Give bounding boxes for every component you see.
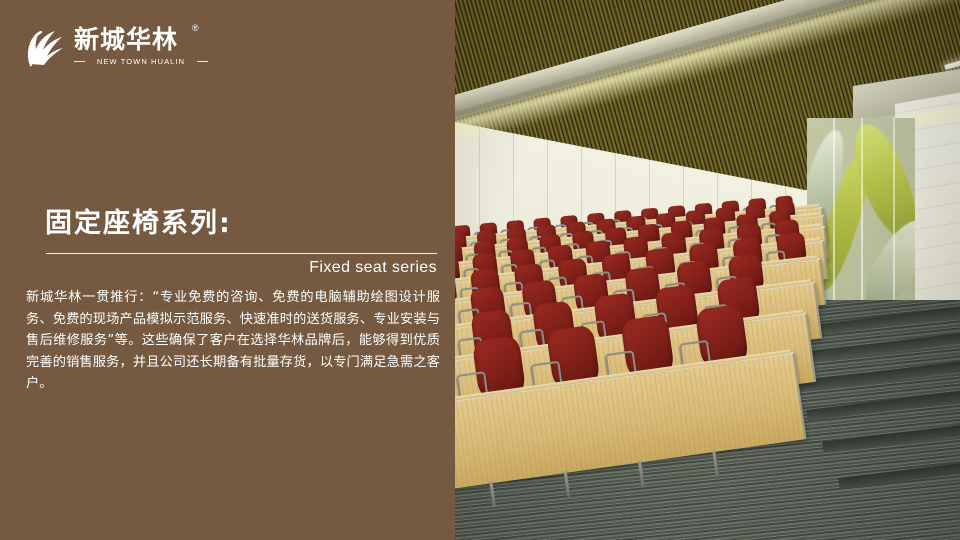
page-title: 固定座椅系列: <box>45 207 232 241</box>
mural-panel-seam <box>893 118 895 328</box>
brand-wordmark: 新城华林 ® NEW TOWN HUALIN <box>74 26 214 66</box>
mural-panel-seam <box>861 118 863 328</box>
brand-name-en-row: NEW TOWN HUALIN <box>74 57 208 66</box>
divider-dash-left <box>74 61 85 62</box>
page-subtitle: Fixed seat series <box>46 257 437 279</box>
body-paragraph: 新城华林一贯推行：“专业免费的咨询、免费的电脑辅助绘图设计服务、免费的现场产品模… <box>26 287 440 395</box>
registered-trademark-icon: ® <box>192 24 199 33</box>
mural-panel-seam <box>833 118 835 328</box>
title-divider <box>46 253 437 254</box>
brand-logo[interactable]: 新城华林 ® NEW TOWN HUALIN <box>22 24 212 76</box>
lecture-hall-photo <box>455 0 960 540</box>
text-panel: 新城华林 ® NEW TOWN HUALIN 固定座椅系列: Fixed sea… <box>0 0 455 540</box>
slide-canvas: 新城华林 ® NEW TOWN HUALIN 固定座椅系列: Fixed sea… <box>0 0 960 540</box>
leaf-feather-mark-icon <box>22 24 68 70</box>
divider-dash-right <box>197 61 208 62</box>
brand-name-en: NEW TOWN HUALIN <box>85 57 197 66</box>
